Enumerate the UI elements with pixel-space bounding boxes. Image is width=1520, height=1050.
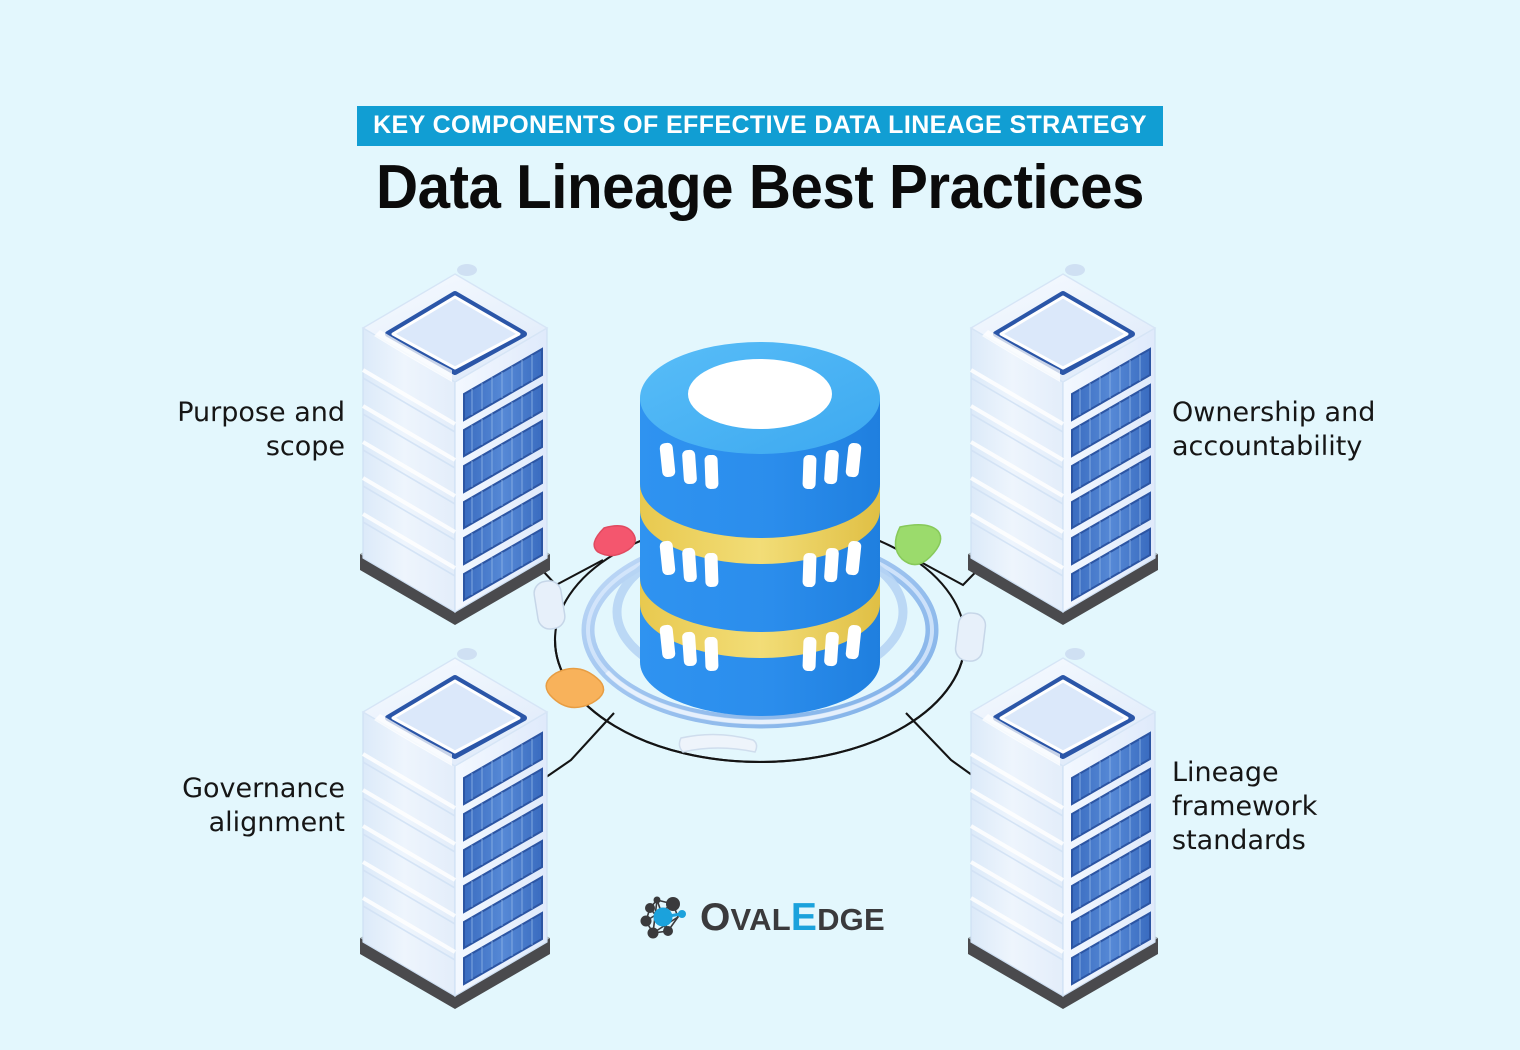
orbit-marker-orange[interactable] (546, 669, 603, 708)
orbit-marker-white-left[interactable] (532, 579, 566, 631)
orbit-marker-white-bottom[interactable] (679, 734, 756, 752)
building-bottom-right[interactable] (968, 648, 1158, 1009)
label-purpose-and-scope: Purpose and scope (30, 396, 345, 464)
label-ownership-and-accountability: Ownership and accountability (1172, 396, 1512, 464)
network-nodes-icon (637, 890, 691, 944)
ovaledge-logo[interactable]: OVALEDGE (637, 890, 885, 944)
building-bottom-left[interactable] (360, 648, 550, 1009)
orbit-marker-white-right[interactable] (954, 612, 987, 663)
building-top-right[interactable] (968, 264, 1158, 625)
infographic-canvas: KEY COMPONENTS OF EFFECTIVE DATA LINEAGE… (0, 0, 1520, 1050)
logo-text-val: VAL (731, 904, 791, 935)
label-governance-alignment: Governance alignment (30, 772, 345, 840)
orbit-marker-red[interactable] (594, 526, 635, 556)
database-cylinder (640, 342, 880, 716)
logo-text-dge: DGE (817, 904, 885, 935)
logo-text-o: O (700, 898, 731, 937)
label-lineage-framework-standards: Lineage framework standards (1172, 756, 1512, 858)
ovaledge-wordmark: OVALEDGE (700, 898, 885, 937)
building-top-left[interactable] (360, 264, 550, 625)
orbit-marker-green[interactable] (895, 525, 940, 565)
logo-text-e: E (791, 898, 817, 937)
